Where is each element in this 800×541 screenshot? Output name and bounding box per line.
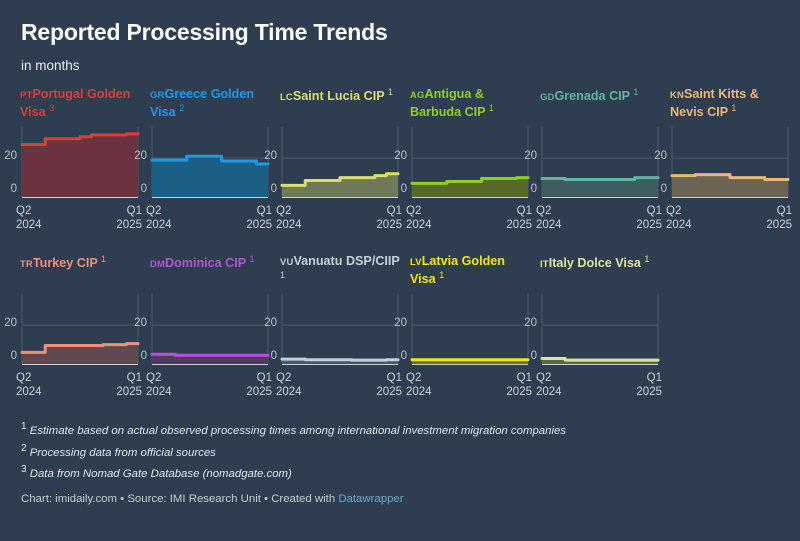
x-tick-end-year: 2025: [246, 218, 272, 232]
x-tick-end-year: 2025: [506, 385, 532, 399]
panel-name: Saint Kitts: [684, 87, 746, 101]
x-tick-start: Q22024: [276, 371, 302, 399]
panel-name: Portugal: [32, 87, 83, 101]
x-tick-start: Q22024: [146, 204, 172, 232]
panel-name-line2: Barbuda CIP: [410, 105, 485, 119]
plot-area: 200: [150, 125, 270, 203]
panel-name: Latvia: [422, 254, 458, 268]
panel-title: GDGrenada CIP 1: [540, 87, 660, 121]
panel-name-line2: Visa: [615, 256, 641, 270]
country-code: GD: [540, 91, 554, 102]
y-tick-0: 0: [11, 184, 17, 196]
x-tick-end-year: 2025: [376, 385, 402, 399]
panel-name: Vanuatu: [293, 254, 342, 268]
x-tick-end-year: 2025: [636, 385, 662, 399]
x-tick-end: Q12025: [506, 371, 532, 399]
x-tick-end: Q12025: [376, 371, 402, 399]
footnote: 1 Estimate based on actual observed proc…: [21, 419, 782, 440]
country-code: VU: [280, 256, 293, 267]
series-svg: [20, 292, 140, 370]
chart-panel-it: ITItaly Dolce Visa 1200Q22024Q12025: [540, 254, 670, 403]
panel-title: VUVanuatu DSP/CIIP 1: [280, 254, 400, 288]
x-tick-end-quarter: Q1: [246, 204, 272, 218]
panel-row-2: TRTurkey CIP 1200Q22024Q12025DMDominica …: [20, 254, 782, 403]
panel-footnote-marker: 1: [633, 87, 638, 97]
series-svg: [20, 125, 140, 203]
x-tick-start-year: 2024: [536, 385, 562, 399]
x-tick-start: Q22024: [536, 371, 562, 399]
panel-footnote-marker: 1: [644, 254, 649, 264]
x-tick-end: Q12025: [506, 204, 532, 232]
chart-panel-gr: GRGreece Golden Visa 2200Q22024Q12025: [150, 87, 280, 236]
x-tick-start: Q22024: [666, 204, 692, 232]
page-subtitle: in months: [21, 58, 782, 73]
footnote: 3 Data from Nomad Gate Database (nomadga…: [21, 462, 782, 483]
chart-panel-kn: KNSaint Kitts & Nevis CIP 1200Q22024Q120…: [670, 87, 800, 236]
country-code: IT: [540, 258, 549, 269]
x-tick-start-year: 2024: [146, 385, 172, 399]
plot-area: 200: [20, 125, 140, 203]
x-tick-end-year: 2025: [766, 218, 792, 232]
panel-footnote-marker: 1: [101, 254, 106, 264]
x-tick-end-year: 2025: [246, 385, 272, 399]
y-tick-0: 0: [141, 184, 147, 196]
chart-panel-gd: GDGrenada CIP 1200Q22024Q12025: [540, 87, 670, 236]
y-tick-20: 20: [394, 151, 407, 163]
x-tick-start-quarter: Q2: [406, 371, 432, 385]
panel-name-line2: CIP: [609, 89, 630, 103]
x-tick-end-quarter: Q1: [636, 371, 662, 385]
y-tick-0: 0: [661, 184, 667, 196]
panel-name-line2: CIP: [225, 256, 246, 270]
chart-panel-pt: PTPortugal Golden Visa 3200Q22024Q12025: [20, 87, 150, 236]
plot-area: 200: [410, 292, 530, 370]
x-tick-end-quarter: Q1: [376, 371, 402, 385]
x-tick-start-year: 2024: [146, 218, 172, 232]
panel-footnote-marker: 1: [489, 103, 494, 113]
x-tick-start: Q22024: [276, 204, 302, 232]
y-tick-20: 20: [524, 318, 537, 330]
y-tick-20: 20: [654, 151, 667, 163]
panel-title: DMDominica CIP 1: [150, 254, 270, 288]
x-tick-start-year: 2024: [666, 218, 692, 232]
country-code: AG: [410, 89, 424, 100]
x-tick-end: Q12025: [636, 204, 662, 232]
panel-footnote-marker: 1: [249, 254, 254, 264]
x-tick-start: Q22024: [146, 371, 172, 399]
series-svg: [280, 125, 400, 203]
plot-area: 200: [540, 125, 660, 203]
y-tick-0: 0: [401, 184, 407, 196]
x-tick-start-year: 2024: [276, 218, 302, 232]
x-tick-end: Q12025: [116, 204, 142, 232]
panel-footnote-marker: 2: [179, 103, 184, 113]
footnote-text: Data from Nomad Gate Database (nomadgate…: [27, 468, 292, 480]
country-code: GR: [150, 89, 164, 100]
panel-name: Greece: [164, 87, 207, 101]
x-tick-start-quarter: Q2: [536, 371, 562, 385]
x-tick-end: Q12025: [246, 204, 272, 232]
x-axis: Q22024Q12025: [20, 371, 140, 403]
series-svg: [540, 125, 660, 203]
chart-panel-lv: LVLatvia Golden Visa 1200Q22024Q12025: [410, 254, 540, 403]
y-tick-20: 20: [264, 318, 277, 330]
x-axis: Q22024Q12025: [150, 371, 270, 403]
panel-name-line2: DSP/CIIP: [346, 254, 400, 268]
plot-area: 200: [410, 125, 530, 203]
x-axis: Q22024Q12025: [540, 204, 660, 236]
y-tick-20: 20: [134, 151, 147, 163]
plot-area: 200: [150, 292, 270, 370]
series-svg: [540, 292, 660, 370]
x-axis: Q22024Q12025: [410, 371, 530, 403]
panel-name: Antigua &: [424, 87, 483, 101]
x-axis: Q22024Q12025: [670, 204, 790, 236]
panel-title: AGAntigua & Barbuda CIP 1: [410, 87, 530, 121]
series-svg: [280, 292, 400, 370]
x-tick-start: Q22024: [16, 371, 42, 399]
x-tick-start-year: 2024: [536, 218, 562, 232]
x-tick-end: Q12025: [116, 371, 142, 399]
panel-title: ITItaly Dolce Visa 1: [540, 254, 660, 288]
x-axis: Q22024Q12025: [410, 204, 530, 236]
x-tick-start-year: 2024: [16, 385, 42, 399]
plot-area: 200: [280, 292, 400, 370]
y-tick-0: 0: [531, 351, 537, 363]
plot-area: 200: [540, 292, 660, 370]
panel-title: KNSaint Kitts & Nevis CIP 1: [670, 87, 790, 121]
x-tick-end-quarter: Q1: [376, 204, 402, 218]
chart-page: Reported Processing Time Trends in month…: [0, 0, 800, 541]
x-tick-end: Q12025: [246, 371, 272, 399]
footnote-text: Estimate based on actual observed proces…: [27, 425, 566, 437]
chart-panel-tr: TRTurkey CIP 1200Q22024Q12025: [20, 254, 150, 403]
series-svg: [150, 292, 270, 370]
x-tick-end-quarter: Q1: [766, 204, 792, 218]
series-svg: [150, 125, 270, 203]
x-tick-end: Q12025: [766, 204, 792, 232]
x-tick-start-quarter: Q2: [276, 371, 302, 385]
chart-panel-dm: DMDominica CIP 1200Q22024Q12025: [150, 254, 280, 403]
x-tick-start-year: 2024: [16, 218, 42, 232]
x-tick-start-quarter: Q2: [16, 371, 42, 385]
y-tick-20: 20: [4, 318, 17, 330]
panel-title: LVLatvia Golden Visa 1: [410, 254, 530, 288]
y-tick-0: 0: [271, 351, 277, 363]
x-tick-end: Q12025: [376, 204, 402, 232]
footnote-text: Processing data from official sources: [27, 447, 216, 459]
y-tick-20: 20: [264, 151, 277, 163]
chart-panel-ag: AGAntigua & Barbuda CIP 1200Q22024Q12025: [410, 87, 540, 236]
y-tick-20: 20: [134, 318, 147, 330]
x-tick-end-quarter: Q1: [116, 204, 142, 218]
credit-line: Chart: imidaily.com • Source: IMI Resear…: [21, 493, 782, 505]
x-tick-start: Q22024: [536, 204, 562, 232]
x-axis: Q22024Q12025: [280, 204, 400, 236]
x-tick-start: Q22024: [406, 204, 432, 232]
series-svg: [670, 125, 790, 203]
x-tick-start-quarter: Q2: [146, 371, 172, 385]
footnotes: 1 Estimate based on actual observed proc…: [21, 419, 782, 483]
chart-panel-lc: LCSaint Lucia CIP 1200Q22024Q12025: [280, 87, 410, 236]
series-line: [282, 359, 398, 360]
x-tick-end: Q12025: [636, 371, 662, 399]
country-code: DM: [150, 258, 165, 269]
y-tick-0: 0: [271, 184, 277, 196]
series-line: [542, 359, 658, 361]
panel-name: Italy Dolce: [549, 256, 612, 270]
x-tick-end-year: 2025: [506, 218, 532, 232]
y-tick-20: 20: [524, 151, 537, 163]
y-tick-20: 20: [4, 151, 17, 163]
x-tick-end-quarter: Q1: [506, 371, 532, 385]
country-code: LC: [280, 91, 293, 102]
x-tick-start-quarter: Q2: [666, 204, 692, 218]
chart-panel-vu: VUVanuatu DSP/CIIP 1200Q22024Q12025: [280, 254, 410, 403]
country-code: PT: [20, 89, 32, 100]
panel-name: Dominica: [165, 256, 222, 270]
panel-name: Saint Lucia: [293, 89, 360, 103]
panel-title: PTPortugal Golden Visa 3: [20, 87, 140, 121]
plot-area: 200: [670, 125, 790, 203]
x-tick-start: Q22024: [406, 371, 432, 399]
country-code: KN: [670, 89, 684, 100]
panel-title: LCSaint Lucia CIP 1: [280, 87, 400, 121]
panel-footnote-marker: 1: [388, 87, 393, 97]
panel-name: Grenada: [554, 89, 605, 103]
x-axis: Q22024Q12025: [280, 371, 400, 403]
panel-title: GRGreece Golden Visa 2: [150, 87, 270, 121]
x-tick-start-year: 2024: [406, 218, 432, 232]
x-axis: Q22024Q12025: [20, 204, 140, 236]
panel-footnote-marker: 3: [49, 103, 54, 113]
footnote: 2 Processing data from official sources: [21, 441, 782, 462]
country-code: LV: [410, 256, 422, 267]
x-tick-end-year: 2025: [116, 218, 142, 232]
credit-text: Chart: imidaily.com • Source: IMI Resear…: [21, 493, 338, 505]
y-tick-20: 20: [394, 318, 407, 330]
x-tick-start: Q22024: [16, 204, 42, 232]
country-code: TR: [20, 258, 33, 269]
x-axis: Q22024Q12025: [540, 371, 660, 403]
x-tick-start-quarter: Q2: [536, 204, 562, 218]
series-line: [152, 355, 268, 356]
x-tick-end-quarter: Q1: [246, 371, 272, 385]
x-tick-end-year: 2025: [116, 385, 142, 399]
x-tick-start-quarter: Q2: [276, 204, 302, 218]
x-tick-start-quarter: Q2: [16, 204, 42, 218]
panel-footnote-marker: 1: [731, 103, 736, 113]
y-tick-0: 0: [401, 351, 407, 363]
x-tick-start-year: 2024: [406, 385, 432, 399]
plot-area: 200: [20, 292, 140, 370]
x-tick-end-year: 2025: [376, 218, 402, 232]
page-title: Reported Processing Time Trends: [21, 20, 782, 45]
y-tick-0: 0: [531, 184, 537, 196]
small-multiples-grid: PTPortugal Golden Visa 3200Q22024Q12025G…: [18, 87, 782, 403]
y-tick-0: 0: [11, 351, 17, 363]
x-tick-start-quarter: Q2: [146, 204, 172, 218]
panel-title: TRTurkey CIP 1: [20, 254, 140, 288]
x-tick-end-year: 2025: [636, 218, 662, 232]
panel-footnote-marker: 1: [280, 270, 285, 280]
series-svg: [410, 125, 530, 203]
datawrapper-link[interactable]: Datawrapper: [338, 493, 403, 505]
panel-name-line2: CIP: [364, 89, 385, 103]
y-tick-0: 0: [141, 351, 147, 363]
panel-row-1: PTPortugal Golden Visa 3200Q22024Q12025G…: [20, 87, 782, 236]
x-tick-start-year: 2024: [276, 385, 302, 399]
plot-area: 200: [280, 125, 400, 203]
panel-name: Turkey CIP: [33, 256, 98, 270]
x-tick-start-quarter: Q2: [406, 204, 432, 218]
x-tick-end-quarter: Q1: [636, 204, 662, 218]
x-tick-end-quarter: Q1: [116, 371, 142, 385]
x-tick-end-quarter: Q1: [506, 204, 532, 218]
series-svg: [410, 292, 530, 370]
x-axis: Q22024Q12025: [150, 204, 270, 236]
panel-footnote-marker: 1: [439, 270, 444, 280]
